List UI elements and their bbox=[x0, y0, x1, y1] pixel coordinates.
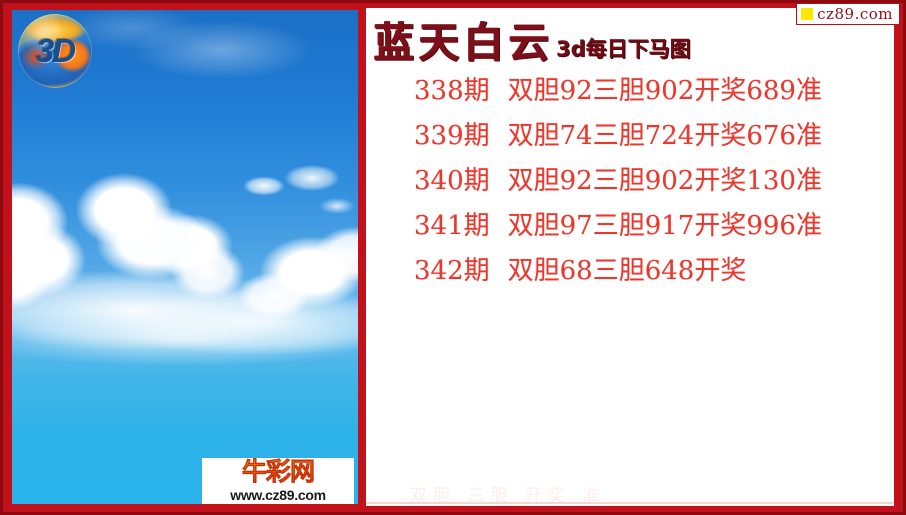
page-title-sub: 3d每日下马图 bbox=[556, 37, 691, 61]
row-issue-number: 340期 bbox=[414, 166, 490, 196]
table-row: 338期 双胆92三胆902开奖689准 bbox=[366, 68, 894, 113]
row-forecast-text: 双胆92三胆902开奖689准 bbox=[508, 76, 822, 106]
row-forecast-text: 双胆74三胆724开奖676准 bbox=[508, 121, 822, 151]
logo-3d-label: 3D bbox=[18, 14, 92, 88]
lottery-3d-logo-icon: 3D bbox=[18, 14, 92, 88]
content-panel: 蓝天白云 3d每日下马图 338期 双胆92三胆902开奖689准 339期 双… bbox=[366, 8, 894, 506]
table-row: 341期 双胆97三胆917开奖996准 bbox=[366, 203, 894, 248]
forecast-row-list: 338期 双胆92三胆902开奖689准 339期 双胆74三胆724开奖676… bbox=[366, 68, 894, 293]
row-issue-number: 342期 bbox=[414, 256, 490, 286]
row-forecast-text: 双胆92三胆902开奖130准 bbox=[508, 166, 822, 196]
sky-image-panel: 3D 牛彩网 www.cz89.com bbox=[12, 10, 358, 504]
watermark-site-name: 牛彩网 bbox=[242, 459, 314, 486]
row-forecast-text: 双胆68三胆648开奖 bbox=[508, 256, 747, 286]
panel-divider bbox=[358, 0, 366, 515]
row-issue-number: 338期 bbox=[414, 76, 490, 106]
watermark-site-url: www.cz89.com bbox=[230, 487, 325, 503]
site-watermark: 牛彩网 www.cz89.com bbox=[202, 458, 354, 504]
row-issue-number: 341期 bbox=[414, 211, 490, 241]
row-issue-number: 339期 bbox=[414, 121, 490, 151]
table-row: 342期 双胆68三胆648开奖 bbox=[366, 248, 894, 293]
lottery-poster: 3D 牛彩网 www.cz89.com 蓝天白云 3d每日下马图 338期 双胆… bbox=[0, 0, 906, 515]
table-row: 340期 双胆92三胆902开奖130准 bbox=[366, 158, 894, 203]
site-badge: cz89.com bbox=[796, 3, 900, 25]
site-badge-label: cz89.com bbox=[817, 6, 893, 23]
bottom-rule bbox=[366, 502, 894, 504]
row-forecast-text: 双胆97三胆917开奖996准 bbox=[508, 211, 822, 241]
page-title-main: 蓝天白云 bbox=[374, 22, 554, 65]
yellow-square-icon bbox=[801, 8, 813, 20]
table-row: 339期 双胆74三胆724开奖676准 bbox=[366, 113, 894, 158]
